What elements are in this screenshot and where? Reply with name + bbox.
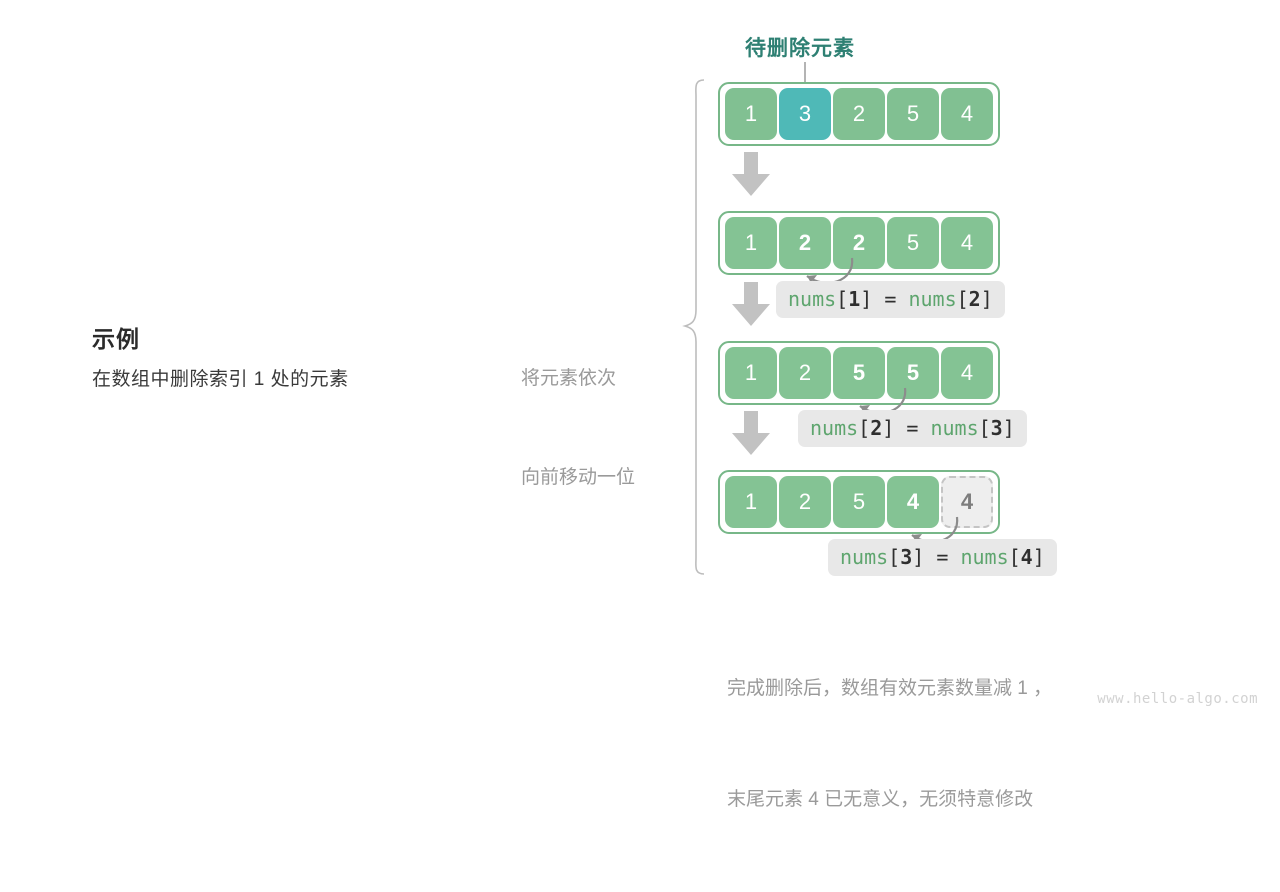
code-identifier: nums [810, 416, 858, 440]
code-operator: = [906, 416, 918, 440]
code-bracket-open: [ [957, 287, 969, 311]
shift-annotation-line1: 将元素依次 [521, 362, 681, 395]
code-bracket-close: ] [1003, 416, 1015, 440]
array-cell: 1 [725, 217, 777, 269]
footer-note-line2: 末尾元素 4 已无意义，无须特意修改 [727, 781, 1197, 818]
array-row-initial: 13254 [718, 82, 1000, 146]
code-bracket-open: [ [979, 416, 991, 440]
footer-note: 完成删除后，数组有效元素数量减 1 ， 末尾元素 4 已无意义，无须特意修改 [727, 596, 1197, 892]
code-bracket-open: [ [836, 287, 848, 311]
array-cell: 4 [941, 347, 993, 399]
code-space [896, 287, 908, 311]
code-identifier: nums [930, 416, 978, 440]
code-index: 2 [870, 416, 882, 440]
caption-subtitle: 在数组中删除索引 1 处的元素 [92, 363, 492, 397]
code-bracket-open: [ [858, 416, 870, 440]
code-identifier: nums [788, 287, 836, 311]
code-identifier: nums [908, 287, 956, 311]
code-bracket-close: ] [1033, 545, 1045, 569]
code-index: 3 [991, 416, 1003, 440]
code-bracket-close: ] [981, 287, 993, 311]
array-cell: 5 [887, 88, 939, 140]
code-index: 2 [969, 287, 981, 311]
code-identifier: nums [840, 545, 888, 569]
code-index: 3 [900, 545, 912, 569]
down-arrow-icon [730, 411, 772, 457]
shift-annotation-line2: 向前移动一位 [521, 461, 681, 494]
code-chip-step2: nums[2] = nums[3] [798, 410, 1027, 447]
code-operator: = [936, 545, 948, 569]
page-title: 示例 [92, 322, 492, 356]
code-bracket-open: [ [1009, 545, 1021, 569]
code-bracket-close: ] [912, 545, 936, 569]
code-index: 1 [848, 287, 860, 311]
array-cell: 2 [833, 88, 885, 140]
code-space [918, 416, 930, 440]
code-operator: = [884, 287, 896, 311]
code-index: 4 [1021, 545, 1033, 569]
curly-brace-icon [682, 78, 712, 578]
code-bracket-close: ] [882, 416, 906, 440]
diagram-canvas: 示例 在数组中删除索引 1 处的元素 将元素依次 向前移动一位 待删除元素 13… [0, 0, 1280, 720]
shift-annotation: 将元素依次 向前移动一位 [521, 296, 681, 560]
watermark: www.hello-algo.com [1097, 691, 1258, 707]
array-cell: 1 [725, 347, 777, 399]
code-bracket-close: ] [860, 287, 884, 311]
code-bracket-open: [ [888, 545, 900, 569]
code-space [948, 545, 960, 569]
example-caption: 示例 在数组中删除索引 1 处的元素 [92, 322, 492, 397]
array-cell: 4 [941, 217, 993, 269]
down-arrow-icon [730, 152, 772, 198]
highlight-label: 待删除元素 [700, 32, 900, 62]
array-cell: 5 [833, 476, 885, 528]
array-cell: 1 [725, 88, 777, 140]
code-chip-step1: nums[1] = nums[2] [776, 281, 1005, 318]
code-identifier: nums [960, 545, 1008, 569]
array-cell: 2 [779, 476, 831, 528]
array-cell: 1 [725, 476, 777, 528]
array-cell: 4 [941, 88, 993, 140]
down-arrow-icon [730, 282, 772, 328]
array-cell: 2 [779, 347, 831, 399]
array-cell: 3 [779, 88, 831, 140]
array-cell: 5 [887, 217, 939, 269]
code-chip-step3: nums[3] = nums[4] [828, 539, 1057, 576]
